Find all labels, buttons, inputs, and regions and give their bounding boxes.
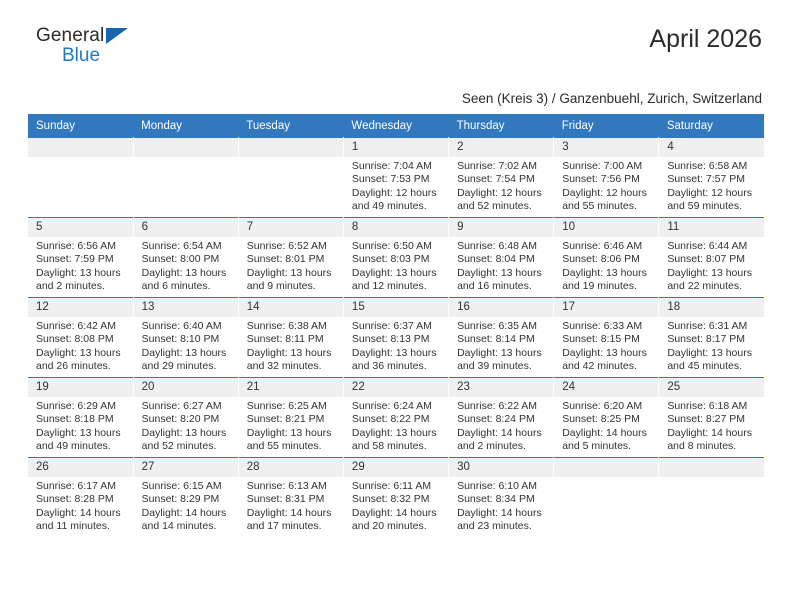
sunset-text: Sunset: 7:56 PM xyxy=(562,173,652,186)
day-number: 13 xyxy=(134,298,238,317)
calendar-day-cell[interactable]: 8Sunrise: 6:50 AMSunset: 8:03 PMDaylight… xyxy=(343,218,448,298)
daylight-text-line2: and 59 minutes. xyxy=(667,200,758,213)
day-number: 20 xyxy=(134,378,238,397)
sunrise-text: Sunrise: 6:40 AM xyxy=(142,320,232,333)
sunset-text: Sunset: 7:59 PM xyxy=(36,253,127,266)
day-number: 1 xyxy=(344,138,448,157)
day-sun-info: Sunrise: 6:11 AMSunset: 8:32 PMDaylight:… xyxy=(344,477,448,534)
day-sun-info: Sunrise: 6:42 AMSunset: 8:08 PMDaylight:… xyxy=(28,317,133,374)
calendar-day-cell[interactable]: 21Sunrise: 6:25 AMSunset: 8:21 PMDayligh… xyxy=(238,378,343,458)
day-sun-info: Sunrise: 6:46 AMSunset: 8:06 PMDaylight:… xyxy=(554,237,658,294)
sunset-text: Sunset: 8:31 PM xyxy=(247,493,337,506)
sunrise-text: Sunrise: 6:54 AM xyxy=(142,240,232,253)
day-number: 26 xyxy=(28,458,133,477)
sunrise-text: Sunrise: 6:50 AM xyxy=(352,240,442,253)
daylight-text-line1: Daylight: 13 hours xyxy=(142,347,232,360)
day-number xyxy=(239,138,343,157)
sunrise-text: Sunrise: 6:33 AM xyxy=(562,320,652,333)
day-number: 24 xyxy=(554,378,658,397)
day-sun-info: Sunrise: 6:50 AMSunset: 8:03 PMDaylight:… xyxy=(344,237,448,294)
sunset-text: Sunset: 8:24 PM xyxy=(457,413,547,426)
daylight-text-line1: Daylight: 13 hours xyxy=(667,267,758,280)
sunrise-text: Sunrise: 6:48 AM xyxy=(457,240,547,253)
calendar-day-cell[interactable]: 10Sunrise: 6:46 AMSunset: 8:06 PMDayligh… xyxy=(554,218,659,298)
day-sun-info: Sunrise: 6:48 AMSunset: 8:04 PMDaylight:… xyxy=(449,237,553,294)
sunset-text: Sunset: 8:03 PM xyxy=(352,253,442,266)
calendar-day-cell[interactable]: 16Sunrise: 6:35 AMSunset: 8:14 PMDayligh… xyxy=(449,298,554,378)
sunrise-text: Sunrise: 6:22 AM xyxy=(457,400,547,413)
sunset-text: Sunset: 8:06 PM xyxy=(562,253,652,266)
sunset-text: Sunset: 8:14 PM xyxy=(457,333,547,346)
weekday-header-row: Sunday Monday Tuesday Wednesday Thursday… xyxy=(28,114,764,138)
daylight-text-line1: Daylight: 12 hours xyxy=(667,187,758,200)
day-number: 21 xyxy=(239,378,343,397)
calendar-day-cell-empty xyxy=(659,458,764,538)
daylight-text-line2: and 6 minutes. xyxy=(142,280,232,293)
daylight-text-line1: Daylight: 13 hours xyxy=(352,347,442,360)
daylight-text-line2: and 2 minutes. xyxy=(457,440,547,453)
weekday-header-saturday: Saturday xyxy=(659,114,764,138)
daylight-text-line2: and 49 minutes. xyxy=(352,200,442,213)
sunset-text: Sunset: 8:10 PM xyxy=(142,333,232,346)
daylight-text-line2: and 8 minutes. xyxy=(667,440,758,453)
sunset-text: Sunset: 8:34 PM xyxy=(457,493,547,506)
sunset-text: Sunset: 8:32 PM xyxy=(352,493,442,506)
daylight-text-line2: and 39 minutes. xyxy=(457,360,547,373)
day-number: 28 xyxy=(239,458,343,477)
daylight-text-line1: Daylight: 14 hours xyxy=(142,507,232,520)
triangle-icon xyxy=(106,28,128,44)
calendar-day-cell[interactable]: 22Sunrise: 6:24 AMSunset: 8:22 PMDayligh… xyxy=(343,378,448,458)
weekday-header-thursday: Thursday xyxy=(449,114,554,138)
sunset-text: Sunset: 8:22 PM xyxy=(352,413,442,426)
location-subtitle: Seen (Kreis 3) / Ganzenbuehl, Zurich, Sw… xyxy=(28,82,764,114)
sunset-text: Sunset: 8:01 PM xyxy=(247,253,337,266)
sunset-text: Sunset: 8:21 PM xyxy=(247,413,337,426)
daylight-text-line2: and 55 minutes. xyxy=(247,440,337,453)
daylight-text-line2: and 17 minutes. xyxy=(247,520,337,533)
calendar-day-cell[interactable]: 26Sunrise: 6:17 AMSunset: 8:28 PMDayligh… xyxy=(28,458,133,538)
calendar-day-cell[interactable]: 6Sunrise: 6:54 AMSunset: 8:00 PMDaylight… xyxy=(133,218,238,298)
daylight-text-line2: and 12 minutes. xyxy=(352,280,442,293)
day-number: 23 xyxy=(449,378,553,397)
day-number: 29 xyxy=(344,458,448,477)
calendar-day-cell[interactable]: 11Sunrise: 6:44 AMSunset: 8:07 PMDayligh… xyxy=(659,218,764,298)
calendar-day-cell[interactable]: 25Sunrise: 6:18 AMSunset: 8:27 PMDayligh… xyxy=(659,378,764,458)
calendar-day-cell[interactable]: 19Sunrise: 6:29 AMSunset: 8:18 PMDayligh… xyxy=(28,378,133,458)
calendar-day-cell[interactable]: 9Sunrise: 6:48 AMSunset: 8:04 PMDaylight… xyxy=(449,218,554,298)
daylight-text-line2: and 19 minutes. xyxy=(562,280,652,293)
daylight-text-line2: and 5 minutes. xyxy=(562,440,652,453)
day-sun-info: Sunrise: 6:25 AMSunset: 8:21 PMDaylight:… xyxy=(239,397,343,454)
day-sun-info: Sunrise: 6:24 AMSunset: 8:22 PMDaylight:… xyxy=(344,397,448,454)
daylight-text-line1: Daylight: 13 hours xyxy=(457,267,547,280)
daylight-text-line1: Daylight: 13 hours xyxy=(562,347,652,360)
day-number: 18 xyxy=(659,298,764,317)
weekday-header-monday: Monday xyxy=(133,114,238,138)
sunrise-text: Sunrise: 6:52 AM xyxy=(247,240,337,253)
day-number: 10 xyxy=(554,218,658,237)
calendar-day-cell-empty xyxy=(554,458,659,538)
sunrise-text: Sunrise: 6:38 AM xyxy=(247,320,337,333)
day-sun-info: Sunrise: 7:02 AMSunset: 7:54 PMDaylight:… xyxy=(449,157,553,214)
calendar-body: 1Sunrise: 7:04 AMSunset: 7:53 PMDaylight… xyxy=(28,138,764,538)
calendar-day-cell-empty xyxy=(28,138,133,218)
sunrise-text: Sunrise: 7:04 AM xyxy=(352,160,442,173)
weekday-header-friday: Friday xyxy=(554,114,659,138)
calendar-day-cell[interactable]: 15Sunrise: 6:37 AMSunset: 8:13 PMDayligh… xyxy=(343,298,448,378)
daylight-text-line1: Daylight: 13 hours xyxy=(247,427,337,440)
weekday-header-wednesday: Wednesday xyxy=(343,114,448,138)
day-sun-info: Sunrise: 6:33 AMSunset: 8:15 PMDaylight:… xyxy=(554,317,658,374)
day-number: 30 xyxy=(449,458,553,477)
sunset-text: Sunset: 8:04 PM xyxy=(457,253,547,266)
day-sun-info: Sunrise: 6:13 AMSunset: 8:31 PMDaylight:… xyxy=(239,477,343,534)
daylight-text-line2: and 22 minutes. xyxy=(667,280,758,293)
day-sun-info: Sunrise: 6:31 AMSunset: 8:17 PMDaylight:… xyxy=(659,317,764,374)
day-sun-info: Sunrise: 6:37 AMSunset: 8:13 PMDaylight:… xyxy=(344,317,448,374)
sunrise-text: Sunrise: 7:00 AM xyxy=(562,160,652,173)
daylight-text-line1: Daylight: 14 hours xyxy=(247,507,337,520)
sunset-text: Sunset: 7:53 PM xyxy=(352,173,442,186)
calendar-week-row: 12Sunrise: 6:42 AMSunset: 8:08 PMDayligh… xyxy=(28,298,764,378)
sunrise-text: Sunrise: 6:17 AM xyxy=(36,480,127,493)
calendar-day-cell[interactable]: 20Sunrise: 6:27 AMSunset: 8:20 PMDayligh… xyxy=(133,378,238,458)
daylight-text-line2: and 2 minutes. xyxy=(36,280,127,293)
daylight-text-line2: and 9 minutes. xyxy=(247,280,337,293)
daylight-text-line1: Daylight: 13 hours xyxy=(247,347,337,360)
calendar-week-row: 26Sunrise: 6:17 AMSunset: 8:28 PMDayligh… xyxy=(28,458,764,538)
day-number: 19 xyxy=(28,378,133,397)
calendar-day-cell-empty xyxy=(238,138,343,218)
daylight-text-line1: Daylight: 12 hours xyxy=(352,187,442,200)
daylight-text-line2: and 42 minutes. xyxy=(562,360,652,373)
daylight-text-line2: and 52 minutes. xyxy=(457,200,547,213)
daylight-text-line1: Daylight: 13 hours xyxy=(562,267,652,280)
daylight-text-line2: and 26 minutes. xyxy=(36,360,127,373)
daylight-text-line2: and 14 minutes. xyxy=(142,520,232,533)
sunset-text: Sunset: 8:08 PM xyxy=(36,333,127,346)
day-number: 22 xyxy=(344,378,448,397)
daylight-text-line1: Daylight: 12 hours xyxy=(457,187,547,200)
daylight-text-line2: and 36 minutes. xyxy=(352,360,442,373)
calendar-day-cell[interactable]: 17Sunrise: 6:33 AMSunset: 8:15 PMDayligh… xyxy=(554,298,659,378)
logo-text-general: General xyxy=(36,25,104,46)
daylight-text-line1: Daylight: 13 hours xyxy=(142,427,232,440)
day-number: 8 xyxy=(344,218,448,237)
sunrise-text: Sunrise: 6:24 AM xyxy=(352,400,442,413)
day-number: 2 xyxy=(449,138,553,157)
calendar-day-cell[interactable]: 3Sunrise: 7:00 AMSunset: 7:56 PMDaylight… xyxy=(554,138,659,218)
weekday-header-sunday: Sunday xyxy=(28,114,133,138)
calendar-day-cell[interactable]: 5Sunrise: 6:56 AMSunset: 7:59 PMDaylight… xyxy=(28,218,133,298)
sunrise-text: Sunrise: 6:25 AM xyxy=(247,400,337,413)
day-sun-info: Sunrise: 7:00 AMSunset: 7:56 PMDaylight:… xyxy=(554,157,658,214)
day-sun-info: Sunrise: 6:22 AMSunset: 8:24 PMDaylight:… xyxy=(449,397,553,454)
calendar-day-cell[interactable]: 28Sunrise: 6:13 AMSunset: 8:31 PMDayligh… xyxy=(238,458,343,538)
sunset-text: Sunset: 7:57 PM xyxy=(667,173,758,186)
weekday-header-tuesday: Tuesday xyxy=(238,114,343,138)
calendar-page: General Blue April 2026 Seen (Kreis 3) /… xyxy=(0,0,792,612)
daylight-text-line1: Daylight: 14 hours xyxy=(36,507,127,520)
day-number xyxy=(28,138,133,157)
daylight-text-line2: and 20 minutes. xyxy=(352,520,442,533)
day-number xyxy=(134,138,238,157)
daylight-text-line2: and 49 minutes. xyxy=(36,440,127,453)
day-number: 15 xyxy=(344,298,448,317)
daylight-text-line2: and 52 minutes. xyxy=(142,440,232,453)
sunset-text: Sunset: 8:13 PM xyxy=(352,333,442,346)
sunrise-text: Sunrise: 6:37 AM xyxy=(352,320,442,333)
day-number: 3 xyxy=(554,138,658,157)
calendar-day-cell[interactable]: 29Sunrise: 6:11 AMSunset: 8:32 PMDayligh… xyxy=(343,458,448,538)
sunrise-text: Sunrise: 6:35 AM xyxy=(457,320,547,333)
daylight-text-line1: Daylight: 12 hours xyxy=(562,187,652,200)
daylight-text-line2: and 58 minutes. xyxy=(352,440,442,453)
day-sun-info: Sunrise: 6:20 AMSunset: 8:25 PMDaylight:… xyxy=(554,397,658,454)
calendar-day-cell[interactable]: 14Sunrise: 6:38 AMSunset: 8:11 PMDayligh… xyxy=(238,298,343,378)
day-sun-info: Sunrise: 6:10 AMSunset: 8:34 PMDaylight:… xyxy=(449,477,553,534)
day-sun-info: Sunrise: 6:29 AMSunset: 8:18 PMDaylight:… xyxy=(28,397,133,454)
daylight-text-line1: Daylight: 13 hours xyxy=(36,347,127,360)
day-number: 7 xyxy=(239,218,343,237)
sunset-text: Sunset: 8:29 PM xyxy=(142,493,232,506)
calendar-day-cell[interactable]: 30Sunrise: 6:10 AMSunset: 8:34 PMDayligh… xyxy=(449,458,554,538)
page-header: General Blue April 2026 xyxy=(28,0,764,82)
sunrise-text: Sunrise: 6:20 AM xyxy=(562,400,652,413)
sunrise-text: Sunrise: 6:15 AM xyxy=(142,480,232,493)
sunset-text: Sunset: 8:20 PM xyxy=(142,413,232,426)
calendar-day-cell[interactable]: 2Sunrise: 7:02 AMSunset: 7:54 PMDaylight… xyxy=(449,138,554,218)
sunset-text: Sunset: 8:18 PM xyxy=(36,413,127,426)
day-number: 25 xyxy=(659,378,764,397)
day-sun-info: Sunrise: 6:35 AMSunset: 8:14 PMDaylight:… xyxy=(449,317,553,374)
sunset-text: Sunset: 8:17 PM xyxy=(667,333,758,346)
calendar-day-cell[interactable]: 12Sunrise: 6:42 AMSunset: 8:08 PMDayligh… xyxy=(28,298,133,378)
sunrise-text: Sunrise: 7:02 AM xyxy=(457,160,547,173)
daylight-text-line1: Daylight: 13 hours xyxy=(142,267,232,280)
day-number: 4 xyxy=(659,138,764,157)
sunrise-text: Sunrise: 6:27 AM xyxy=(142,400,232,413)
daylight-text-line2: and 32 minutes. xyxy=(247,360,337,373)
generalblue-logo[interactable]: General Blue xyxy=(28,26,156,65)
sunrise-text: Sunrise: 6:10 AM xyxy=(457,480,547,493)
sunrise-text: Sunrise: 6:42 AM xyxy=(36,320,127,333)
calendar-day-cell-empty xyxy=(133,138,238,218)
daylight-text-line1: Daylight: 13 hours xyxy=(36,267,127,280)
day-sun-info: Sunrise: 6:58 AMSunset: 7:57 PMDaylight:… xyxy=(659,157,764,214)
day-number: 16 xyxy=(449,298,553,317)
daylight-text-line2: and 23 minutes. xyxy=(457,520,547,533)
day-number: 14 xyxy=(239,298,343,317)
daylight-text-line1: Daylight: 14 hours xyxy=(457,507,547,520)
calendar-day-cell[interactable]: 23Sunrise: 6:22 AMSunset: 8:24 PMDayligh… xyxy=(449,378,554,458)
daylight-text-line1: Daylight: 14 hours xyxy=(562,427,652,440)
day-number xyxy=(659,458,764,477)
day-sun-info: Sunrise: 6:52 AMSunset: 8:01 PMDaylight:… xyxy=(239,237,343,294)
day-number: 12 xyxy=(28,298,133,317)
daylight-text-line1: Daylight: 13 hours xyxy=(36,427,127,440)
logo-text-blue: Blue xyxy=(62,46,156,65)
calendar-day-cell[interactable]: 13Sunrise: 6:40 AMSunset: 8:10 PMDayligh… xyxy=(133,298,238,378)
day-number: 9 xyxy=(449,218,553,237)
daylight-text-line1: Daylight: 14 hours xyxy=(457,427,547,440)
sunset-text: Sunset: 8:28 PM xyxy=(36,493,127,506)
calendar-day-cell[interactable]: 4Sunrise: 6:58 AMSunset: 7:57 PMDaylight… xyxy=(659,138,764,218)
sunrise-sunset-calendar: Sunday Monday Tuesday Wednesday Thursday… xyxy=(28,114,764,537)
title-block: April 2026 xyxy=(649,26,764,54)
day-sun-info: Sunrise: 6:27 AMSunset: 8:20 PMDaylight:… xyxy=(134,397,238,454)
daylight-text-line2: and 45 minutes. xyxy=(667,360,758,373)
calendar-day-cell[interactable]: 27Sunrise: 6:15 AMSunset: 8:29 PMDayligh… xyxy=(133,458,238,538)
daylight-text-line2: and 16 minutes. xyxy=(457,280,547,293)
calendar-week-row: 5Sunrise: 6:56 AMSunset: 7:59 PMDaylight… xyxy=(28,218,764,298)
daylight-text-line1: Daylight: 13 hours xyxy=(667,347,758,360)
sunrise-text: Sunrise: 6:46 AM xyxy=(562,240,652,253)
sunset-text: Sunset: 7:54 PM xyxy=(457,173,547,186)
day-sun-info: Sunrise: 6:44 AMSunset: 8:07 PMDaylight:… xyxy=(659,237,764,294)
daylight-text-line1: Daylight: 14 hours xyxy=(667,427,758,440)
day-number xyxy=(554,458,658,477)
day-number: 27 xyxy=(134,458,238,477)
sunrise-text: Sunrise: 6:29 AM xyxy=(36,400,127,413)
day-sun-info: Sunrise: 6:15 AMSunset: 8:29 PMDaylight:… xyxy=(134,477,238,534)
daylight-text-line2: and 29 minutes. xyxy=(142,360,232,373)
day-number: 5 xyxy=(28,218,133,237)
sunrise-text: Sunrise: 6:44 AM xyxy=(667,240,758,253)
calendar-day-cell[interactable]: 1Sunrise: 7:04 AMSunset: 7:53 PMDaylight… xyxy=(343,138,448,218)
sunset-text: Sunset: 8:07 PM xyxy=(667,253,758,266)
day-number: 6 xyxy=(134,218,238,237)
day-sun-info: Sunrise: 6:54 AMSunset: 8:00 PMDaylight:… xyxy=(134,237,238,294)
day-number: 17 xyxy=(554,298,658,317)
day-sun-info: Sunrise: 6:38 AMSunset: 8:11 PMDaylight:… xyxy=(239,317,343,374)
sunrise-text: Sunrise: 6:56 AM xyxy=(36,240,127,253)
day-sun-info: Sunrise: 7:04 AMSunset: 7:53 PMDaylight:… xyxy=(344,157,448,214)
calendar-day-cell[interactable]: 18Sunrise: 6:31 AMSunset: 8:17 PMDayligh… xyxy=(659,298,764,378)
day-sun-info: Sunrise: 6:40 AMSunset: 8:10 PMDaylight:… xyxy=(134,317,238,374)
sunset-text: Sunset: 8:15 PM xyxy=(562,333,652,346)
daylight-text-line1: Daylight: 13 hours xyxy=(352,267,442,280)
day-sun-info: Sunrise: 6:56 AMSunset: 7:59 PMDaylight:… xyxy=(28,237,133,294)
page-title: April 2026 xyxy=(649,26,762,54)
sunset-text: Sunset: 8:25 PM xyxy=(562,413,652,426)
daylight-text-line1: Daylight: 14 hours xyxy=(352,507,442,520)
calendar-day-cell[interactable]: 24Sunrise: 6:20 AMSunset: 8:25 PMDayligh… xyxy=(554,378,659,458)
calendar-week-row: 19Sunrise: 6:29 AMSunset: 8:18 PMDayligh… xyxy=(28,378,764,458)
sunset-text: Sunset: 8:11 PM xyxy=(247,333,337,346)
sunrise-text: Sunrise: 6:31 AM xyxy=(667,320,758,333)
calendar-day-cell[interactable]: 7Sunrise: 6:52 AMSunset: 8:01 PMDaylight… xyxy=(238,218,343,298)
sunrise-text: Sunrise: 6:13 AM xyxy=(247,480,337,493)
sunrise-text: Sunrise: 6:58 AM xyxy=(667,160,758,173)
daylight-text-line2: and 55 minutes. xyxy=(562,200,652,213)
daylight-text-line1: Daylight: 13 hours xyxy=(352,427,442,440)
day-sun-info: Sunrise: 6:17 AMSunset: 8:28 PMDaylight:… xyxy=(28,477,133,534)
day-number: 11 xyxy=(659,218,764,237)
daylight-text-line2: and 11 minutes. xyxy=(36,520,127,533)
daylight-text-line1: Daylight: 13 hours xyxy=(457,347,547,360)
sunrise-text: Sunrise: 6:11 AM xyxy=(352,480,442,493)
daylight-text-line1: Daylight: 13 hours xyxy=(247,267,337,280)
calendar-week-row: 1Sunrise: 7:04 AMSunset: 7:53 PMDaylight… xyxy=(28,138,764,218)
sunset-text: Sunset: 8:00 PM xyxy=(142,253,232,266)
sunrise-text: Sunrise: 6:18 AM xyxy=(667,400,758,413)
day-sun-info: Sunrise: 6:18 AMSunset: 8:27 PMDaylight:… xyxy=(659,397,764,454)
sunset-text: Sunset: 8:27 PM xyxy=(667,413,758,426)
